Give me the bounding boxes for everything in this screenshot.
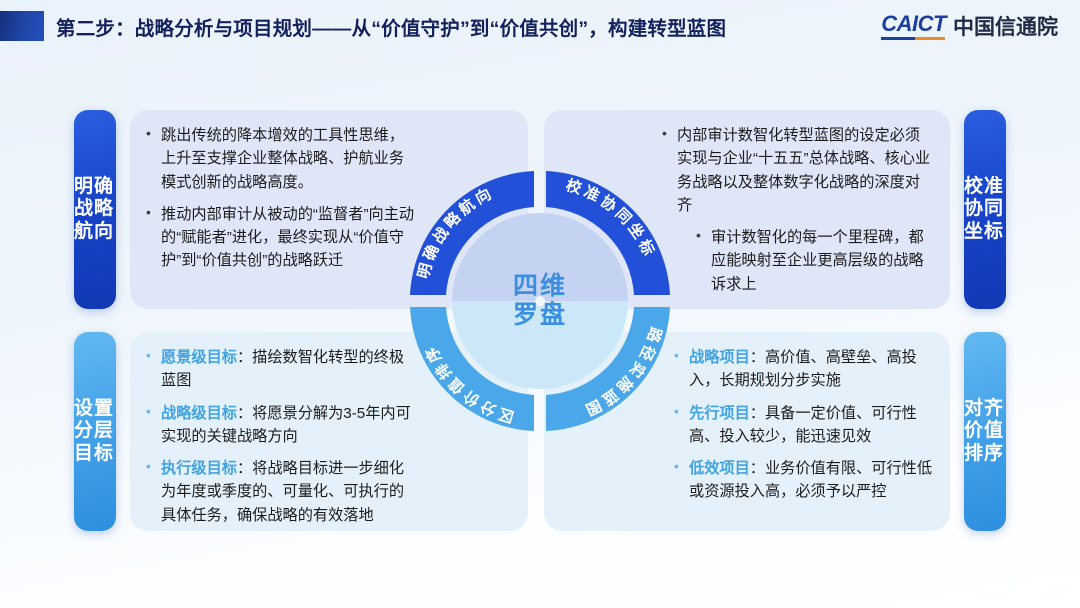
list-item-term: 愿景级目标 (161, 349, 237, 366)
list-item-term: 先行项目 (689, 405, 750, 422)
list-item: 低效项目：业务价值有限、可行性低或资源投入高，必须予以严控 (674, 457, 934, 504)
list-item: 战略项目：高价值、高壁垒、高投入，长期规划分步实施 (674, 346, 934, 393)
logo-chinese-name: 中国信通院 (953, 17, 1058, 40)
list-item-term: 执行级目标 (161, 460, 237, 477)
list-item: 先行项目：具备一定价值、可行性高、投入较少，能迅速见效 (674, 402, 934, 449)
list-item: 审计数智化的每一个里程碑，都应能映射至企业更高层级的战略诉求上 (696, 226, 934, 296)
caict-logo: CAICT 中国信通院 (881, 13, 1058, 40)
page-title: 第二步：战略分析与项目规划——从“价值守护”到“价值共创”，构建转型蓝图 (56, 12, 726, 41)
logo-underline (881, 37, 946, 40)
list-item-term: 战略项目 (689, 349, 750, 366)
compass-center-line1: 四维 (513, 272, 567, 301)
pill-label-shezhi-fenceng-mubiao: 设置分层目标 (74, 332, 116, 531)
list-item-term: 低效项目 (689, 460, 750, 477)
pill-bl-text: 设置分层目标 (74, 398, 116, 464)
pill-label-duiqi-jiazhi-paixu: 对齐价值排序 (964, 332, 1006, 531)
header-accent-bar (0, 11, 44, 41)
logo-mark: CAICT (881, 13, 946, 40)
pill-tl-text: 明确战略航向 (74, 176, 116, 242)
page-header: 第二步：战略分析与项目规划——从“价值守护”到“价值共创”，构建转型蓝图 CAI… (0, 0, 1080, 52)
pill-tr-text: 校准协同坐标 (964, 176, 1006, 242)
list-item: 执行级目标：将战略目标进一步细化为年度或季度的、可量化、可执行的具体任务，确保战… (146, 457, 416, 527)
pill-br-text: 对齐价值排序 (964, 398, 1006, 464)
pill-label-mingque-zhanlue-hangxiang: 明确战略航向 (74, 110, 116, 309)
list-item: 内部审计数智化转型蓝图的设定必须实现与企业“十五五”总体战略、核心业务战略以及整… (662, 124, 934, 217)
logo-underline-blue (881, 37, 915, 40)
list-item-term: 战略级目标 (161, 405, 237, 422)
logo-underline-orange (915, 37, 945, 40)
compass-center-label: 四维 罗盘 (404, 165, 676, 437)
list-item: 战略级目标：将愿景分解为3-5年内可实现的关键战略方向 (146, 402, 416, 449)
logo-mark-text: CAICT (881, 13, 946, 35)
list-item: 愿景级目标：描绘数智化转型的终极蓝图 (146, 346, 416, 393)
list-item: 跳出传统的降本增效的工具性思维，上升至支撑企业整体战略、护航业务模式创新的战略高… (146, 124, 416, 194)
list-item: 推动内部审计从被动的“监督者”向主动的“赋能者”进化，最终实现从“价值守护”到“… (146, 203, 416, 273)
compass-center-line2: 罗盘 (513, 301, 567, 330)
pill-label-jiaozhun-xietong-zuobiao: 校准协同坐标 (964, 110, 1006, 309)
